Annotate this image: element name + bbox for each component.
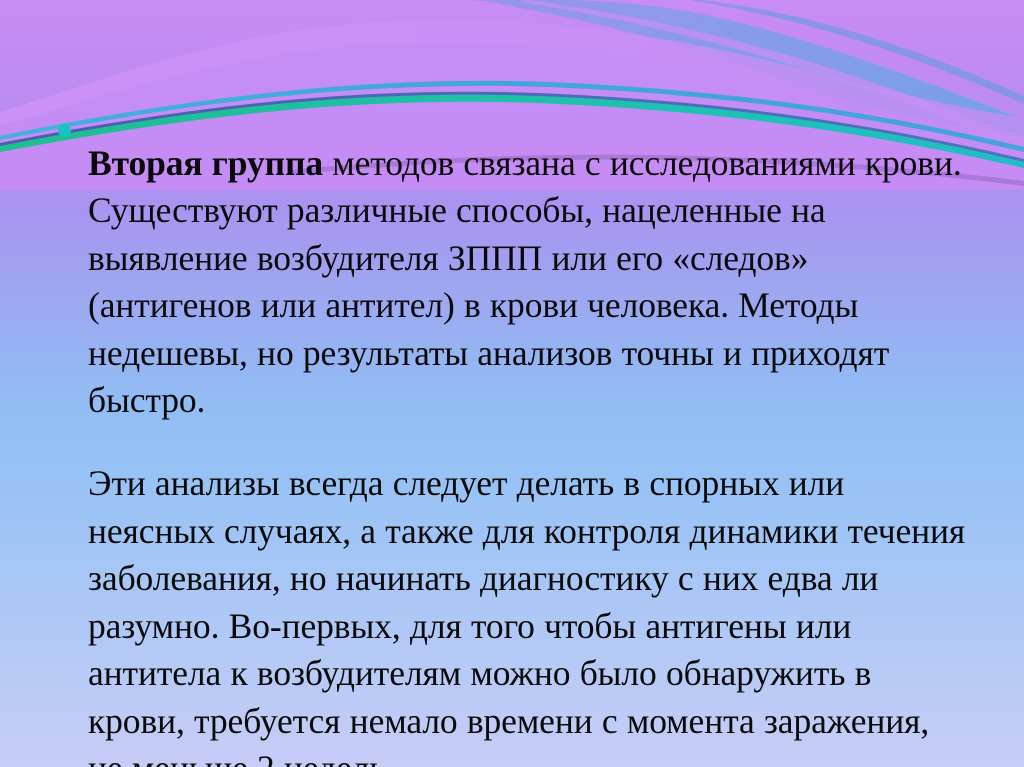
- bullet-point-icon: [58, 124, 71, 137]
- paragraph-1-text: методов связана с исследованиями крови. …: [88, 143, 971, 421]
- bold-lead-in: Вторая группа: [88, 143, 323, 183]
- paragraph-stack: Вторая группа методов связана с исследов…: [88, 104, 970, 767]
- bullet-list-item: Вторая группа методов связана с исследов…: [58, 104, 970, 767]
- slide-body: Вторая группа методов связана с исследов…: [58, 104, 970, 767]
- paragraph-2: Эти анализы всегда следует делать в спор…: [88, 460, 970, 767]
- presentation-slide: Вторая группа методов связана с исследов…: [0, 0, 1024, 767]
- paragraph-1: Вторая группа методов связана с исследов…: [88, 140, 970, 425]
